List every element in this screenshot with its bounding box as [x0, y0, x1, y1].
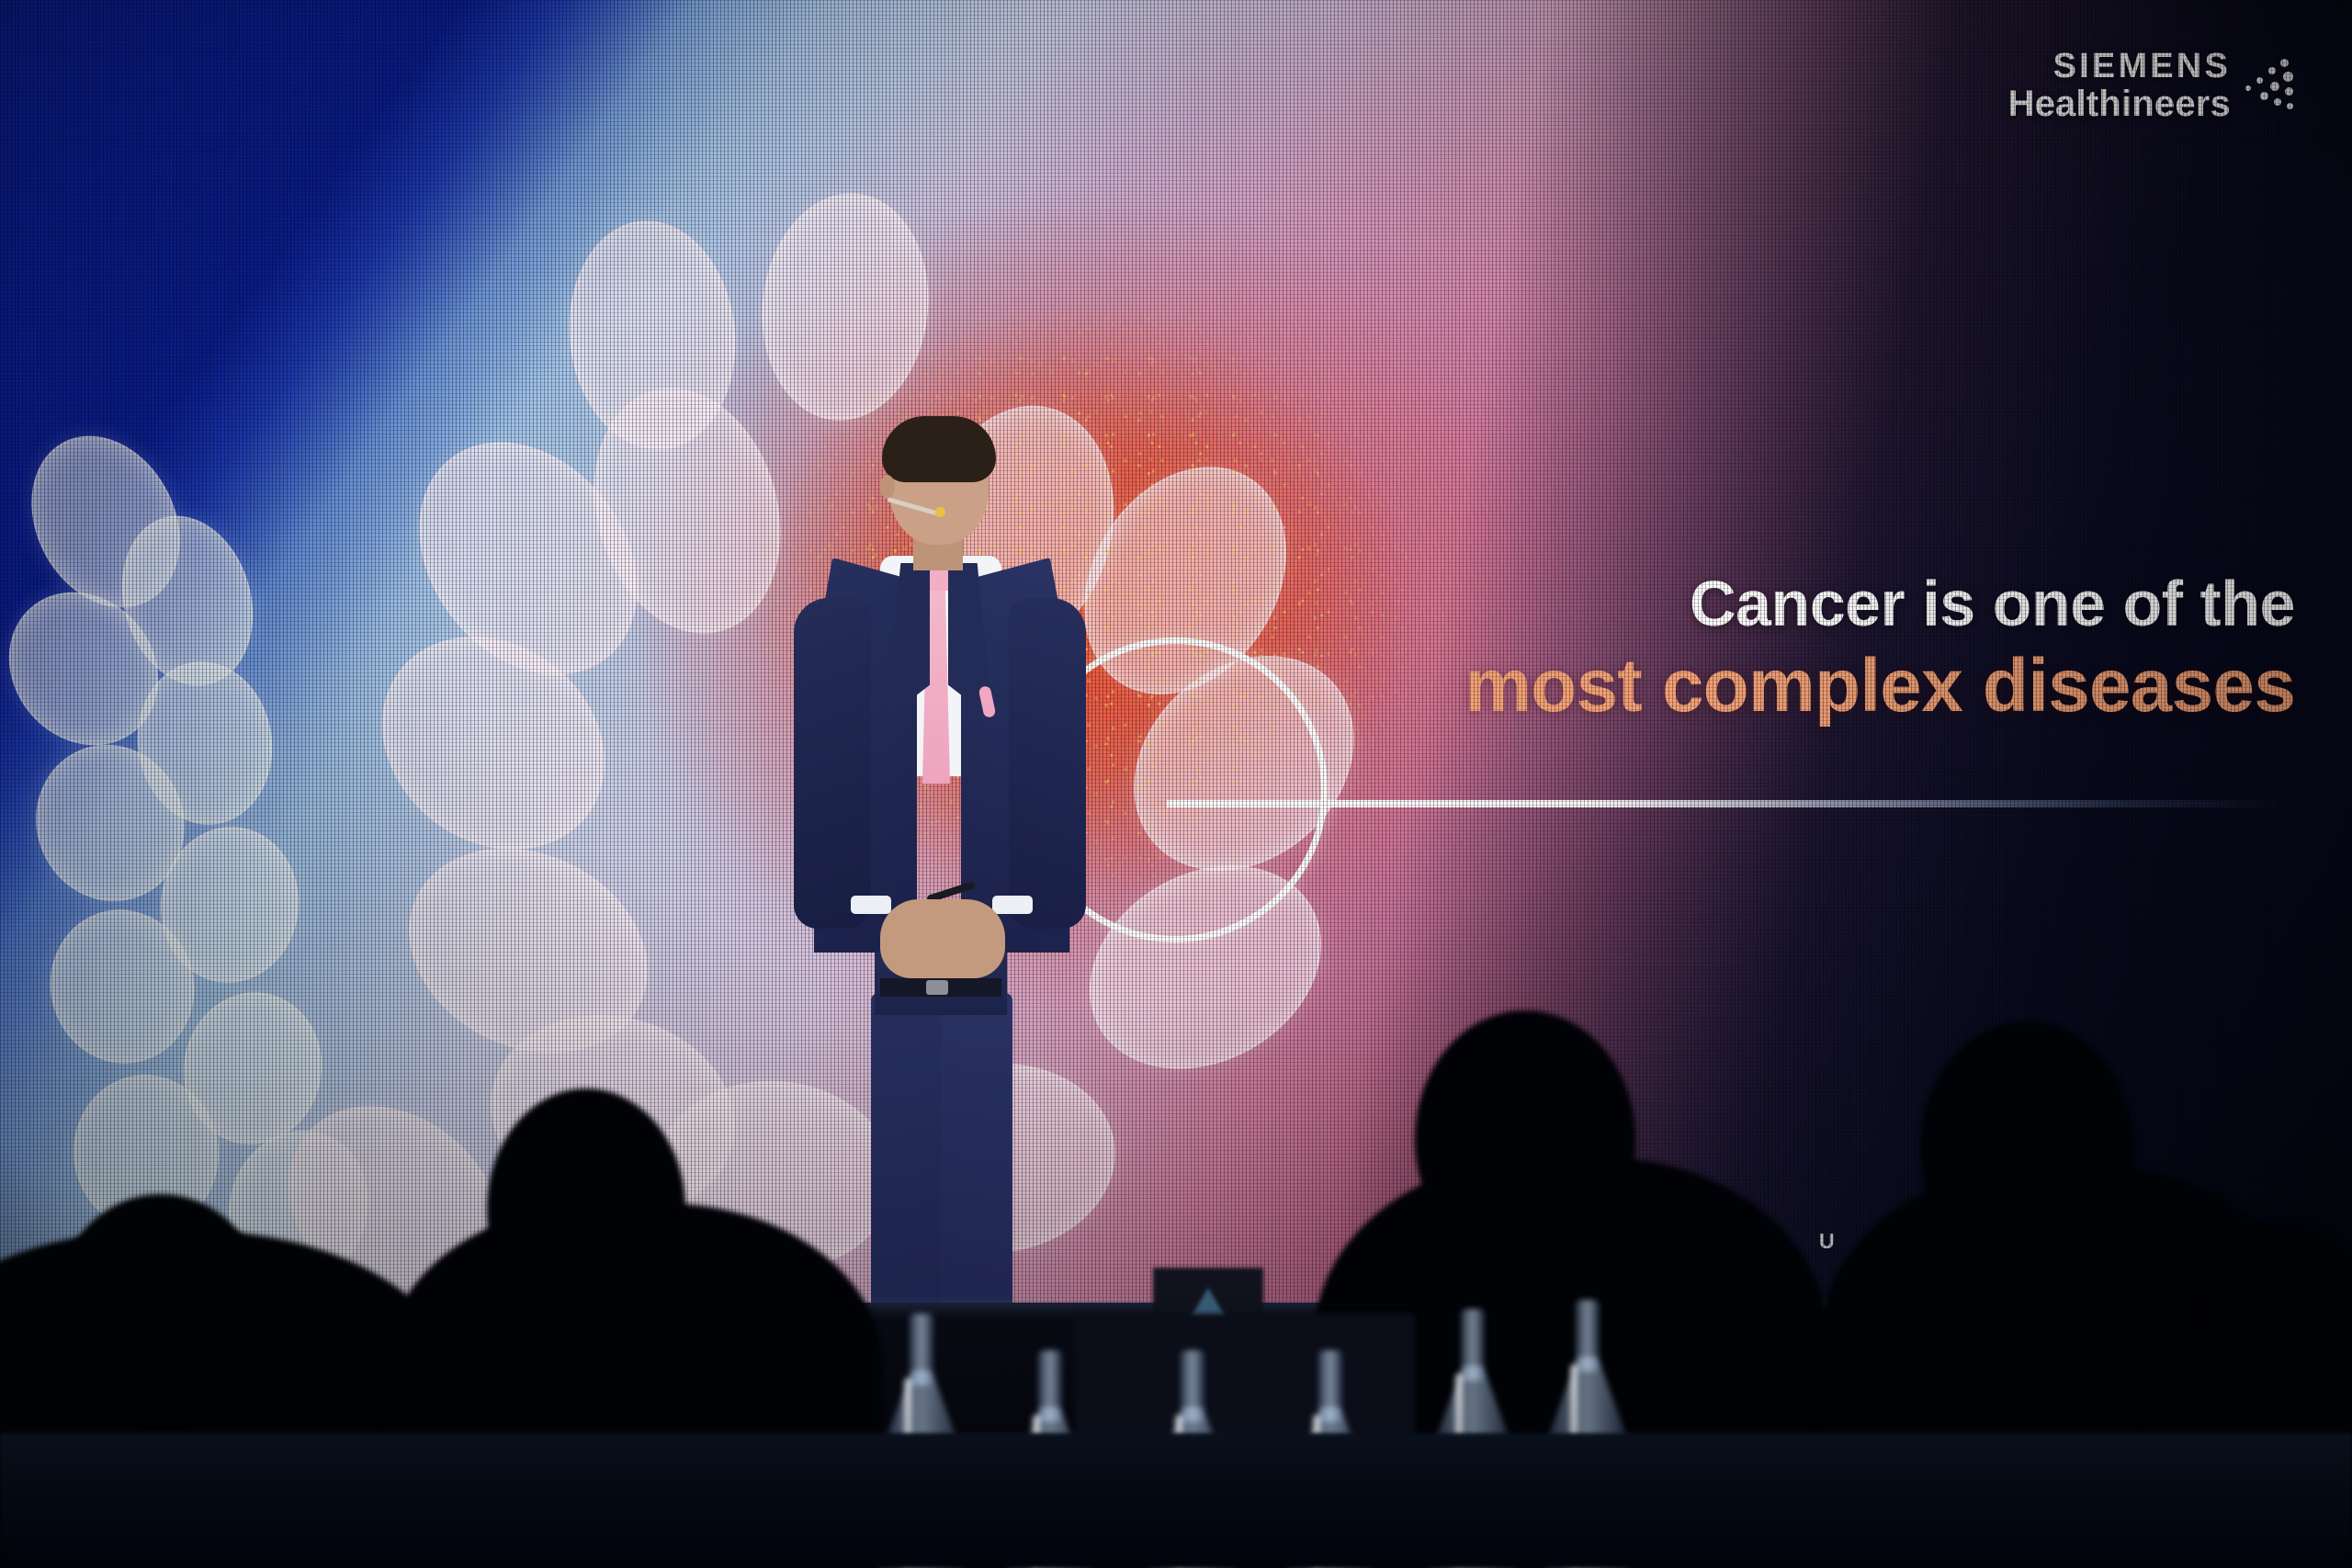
slide-footer-left: U [1819, 1229, 1835, 1254]
logo-line-siemens: SIEMENS [2008, 48, 2232, 85]
headline-line-1: Cancer is one of the [1464, 571, 2295, 637]
bottle-shoulder [1545, 1357, 1630, 1445]
siemens-healthineers-logo: SIEMENS Healthineers [2008, 48, 2296, 124]
audience-head [1415, 1010, 1635, 1268]
dot-cluster-icon [2244, 57, 2295, 114]
speaker-arm-left [794, 598, 871, 929]
logo-wordmark: SIEMENS Healthineers [2008, 48, 2232, 124]
slide-rule-graphic [1167, 800, 2288, 807]
audience-head [55, 1194, 266, 1424]
slide-headline: Cancer is one of the most complex diseas… [1464, 571, 2295, 725]
speaker-belt-buckle [926, 980, 948, 995]
speaker-table [0, 1433, 2352, 1568]
speaker-hands [880, 899, 1005, 978]
speaker-cuff-right [992, 896, 1033, 914]
audience-head [487, 1089, 685, 1329]
microphone-tip-icon [935, 507, 945, 517]
logo-line-healthineers: Healthineers [2008, 85, 2232, 123]
speaker-hair [882, 416, 996, 482]
audience-head [1920, 1021, 2133, 1275]
speaker-ear [880, 475, 895, 499]
headline-line-2: most complex diseases [1464, 648, 2295, 725]
stage-scene: Cancer is one of the most complex diseas… [0, 0, 2352, 1568]
speaker-cuff-left [851, 896, 891, 914]
speaker-arm-right [1009, 598, 1086, 929]
